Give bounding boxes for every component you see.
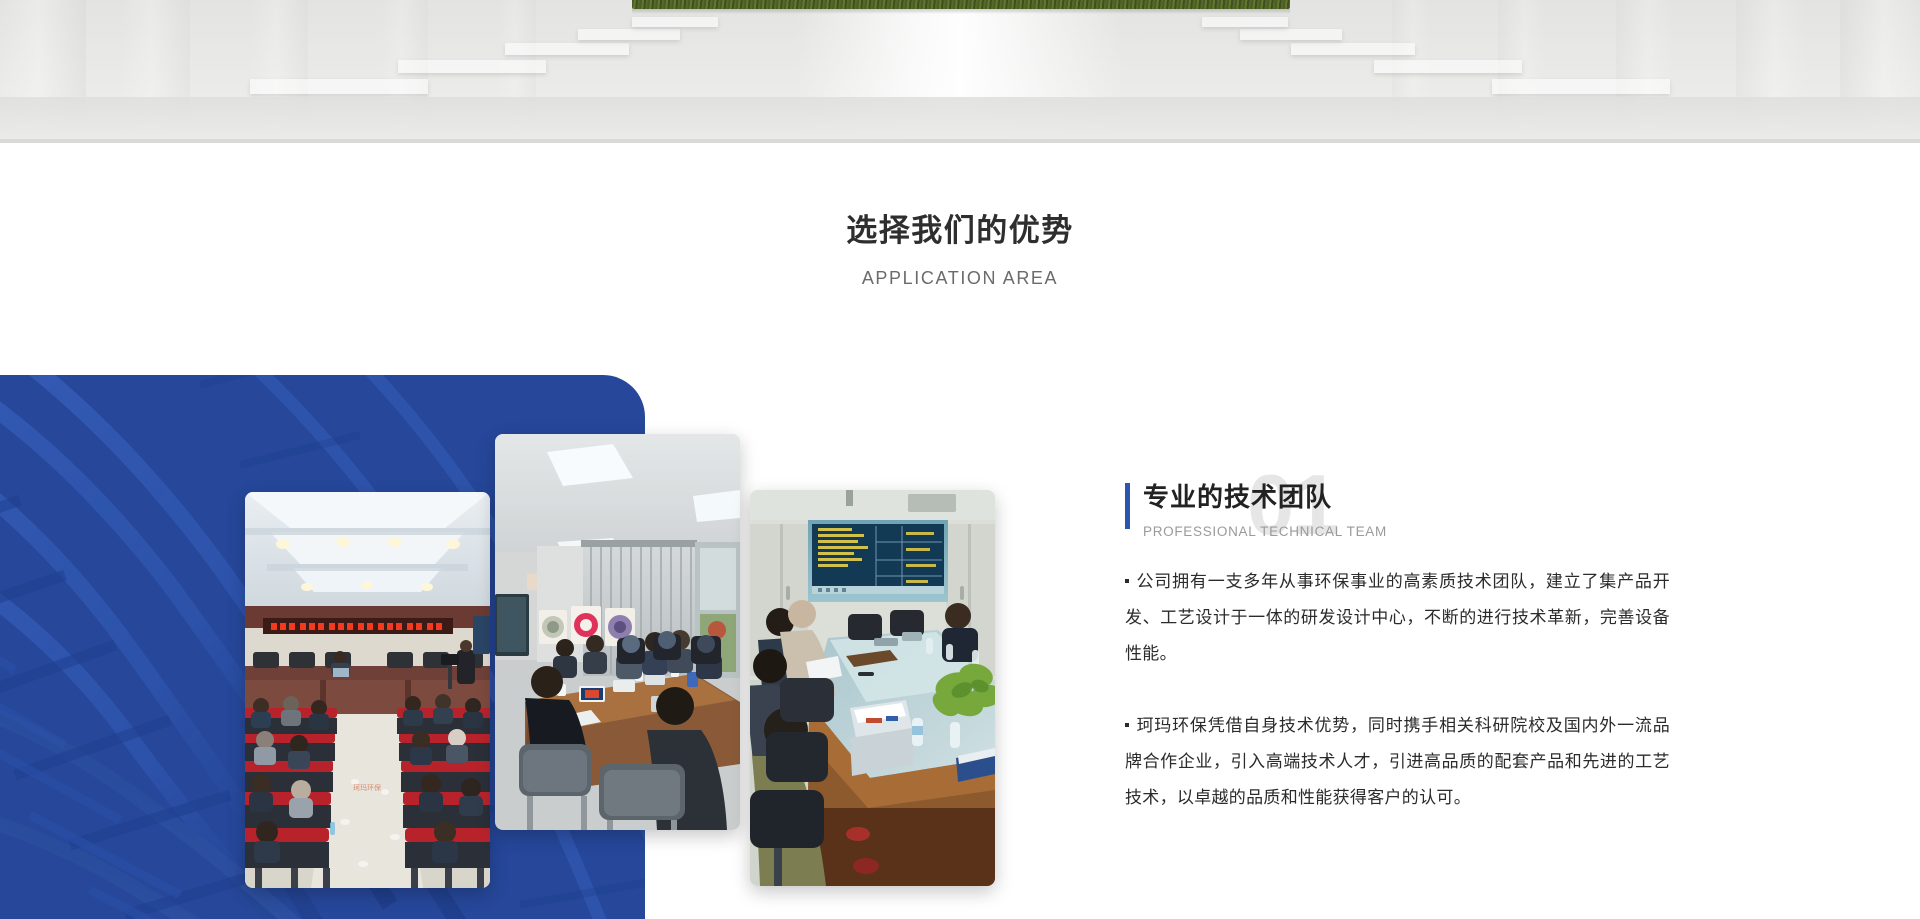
banner-step [1291,43,1415,55]
conference-room-image [750,490,995,886]
section-header: 选择我们的优势 APPLICATION AREA [0,143,1920,289]
page-root: 选择我们的优势 APPLICATION AREA [0,0,1920,919]
banner-step [1492,79,1670,94]
feature-paragraph-text: 公司拥有一支多年从事环保事业的高素质技术团队，建立了集产品开发、工艺设计于一体的… [1125,572,1670,663]
banner-step [505,43,629,55]
page-subtitle: APPLICATION AREA [0,268,1920,289]
hero-banner [0,0,1920,143]
accent-bar [1125,483,1130,529]
feature-paragraph: 珂玛环保凭借自身技术优势，同时携手相关科研院校及国内外一流品牌合作企业，引入高端… [1125,708,1670,816]
banner-floor [0,97,1920,143]
banner-step [250,79,428,94]
banner-step [398,60,546,73]
banner-step [578,29,680,40]
feature-title: 专业的技术团队 [1143,480,1332,515]
feature-header: 01 专业的技术团队 PROFESSIONAL TECHNICAL TEAM [1125,480,1670,552]
feature-paragraph-text: 珂玛环保凭借自身技术优势，同时携手相关科研院校及国内外一流品牌合作企业，引入高端… [1125,716,1670,807]
grass-strip-icon [632,0,1290,9]
banner-step [1240,29,1342,40]
gallery-photo-conference-room[interactable] [750,490,995,886]
meeting-room-image [495,434,740,830]
bullet-icon [1125,723,1129,727]
grass-strip-shadow [632,9,1290,14]
bullet-icon [1125,579,1129,583]
feature-subtitle: PROFESSIONAL TECHNICAL TEAM [1143,524,1387,539]
banner-step [1202,17,1288,27]
feature-body: 公司拥有一支多年从事环保事业的高素质技术团队，建立了集产品开发、工艺设计于一体的… [1125,564,1670,816]
gallery-photo-meeting-room[interactable] [495,434,740,830]
banner-step [632,17,718,27]
feature-block-01: 01 专业的技术团队 PROFESSIONAL TECHNICAL TEAM 公… [1125,480,1670,816]
gallery-photo-auditorium[interactable]: 珂玛环保 [245,492,490,888]
svg-text:珂玛环保: 珂玛环保 [353,783,381,792]
page-title: 选择我们的优势 [0,211,1920,251]
auditorium-image: 珂玛环保 [245,492,490,888]
feature-paragraph: 公司拥有一支多年从事环保事业的高素质技术团队，建立了集产品开发、工艺设计于一体的… [1125,564,1670,672]
banner-step [1374,60,1522,73]
